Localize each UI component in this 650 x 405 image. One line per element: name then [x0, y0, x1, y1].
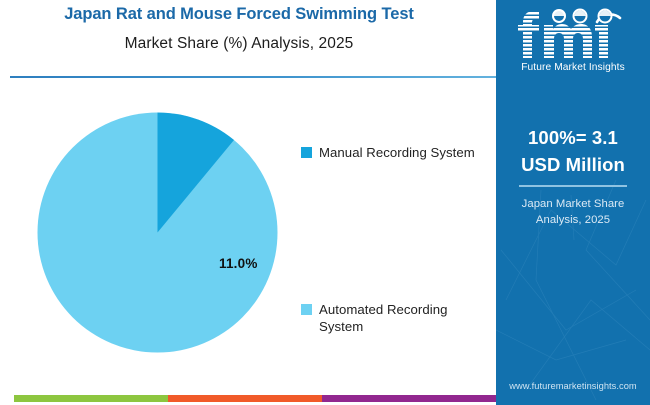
square-swatch-icon	[301, 147, 312, 158]
strip-spacer	[0, 395, 14, 402]
orange-segment	[168, 395, 322, 402]
pie-chart: 11.0%	[37, 112, 278, 353]
pie-slice-label-manual: 11.0%	[219, 256, 258, 271]
title-block: Japan Rat and Mouse Forced Swimming Test…	[0, 4, 478, 54]
side-panel: Future Market Insights 100%= 3.1 USD Mil…	[496, 0, 650, 405]
panel-value-line-2: USD Million	[496, 151, 650, 178]
fmi-logo: Future Market Insights	[496, 8, 650, 73]
purple-segment	[322, 395, 496, 402]
panel-value-line-1: 100%= 3.1	[496, 124, 650, 151]
header-divider	[10, 76, 496, 78]
legend-item-label: Automated Recording System	[319, 301, 477, 336]
page-title: Japan Rat and Mouse Forced Swimming Test	[0, 4, 478, 25]
panel-caption-line-2: Analysis, 2025	[496, 212, 650, 228]
legend-item-automated-recording-system[interactable]: Automated Recording System	[301, 301, 477, 336]
panel-website-url[interactable]: www.futuremarketinsights.com	[496, 381, 650, 391]
fmi-logo-tagline: Future Market Insights	[496, 62, 650, 73]
page-subtitle: Market Share (%) Analysis, 2025	[0, 34, 478, 54]
green-segment	[14, 395, 168, 402]
bottom-color-strip	[0, 395, 496, 402]
panel-caption-line-1: Japan Market Share	[496, 196, 650, 212]
panel-value-block: 100%= 3.1 USD Million	[496, 124, 650, 179]
square-swatch-icon	[301, 304, 312, 315]
legend-item-label: Manual Recording System	[319, 144, 475, 161]
pie-chart-svg	[37, 112, 278, 353]
panel-caption-block: Japan Market Share Analysis, 2025	[496, 196, 650, 228]
fmi-logo-mark	[517, 8, 629, 60]
legend-item-manual-recording-system[interactable]: Manual Recording System	[301, 144, 487, 161]
chart-content-area: Japan Rat and Mouse Forced Swimming Test…	[0, 0, 496, 405]
chart-page: Japan Rat and Mouse Forced Swimming Test…	[0, 0, 650, 405]
panel-divider	[519, 185, 627, 187]
